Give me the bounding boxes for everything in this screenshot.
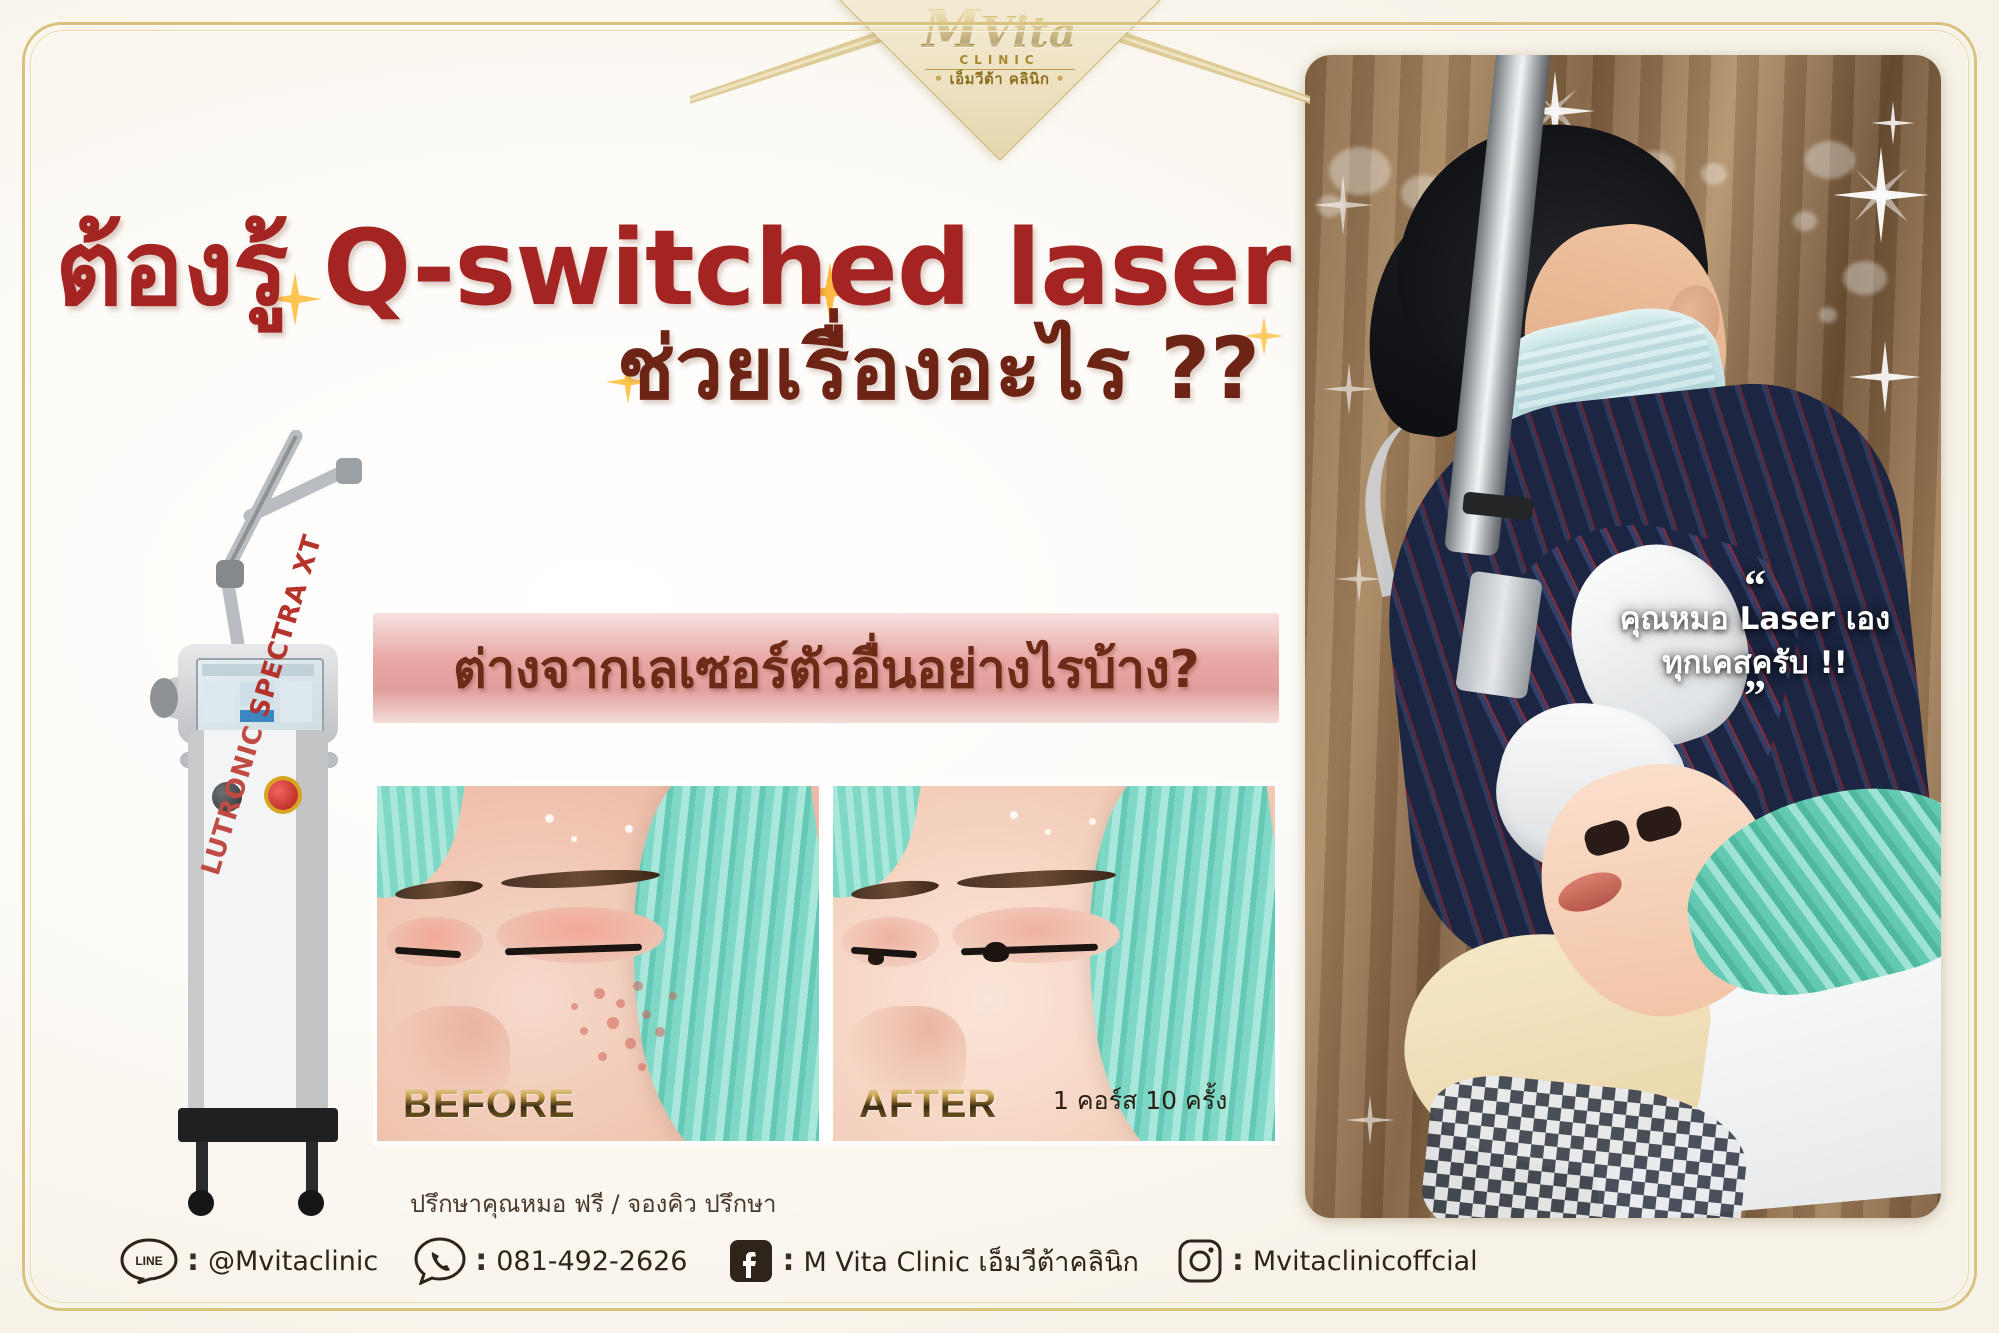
brand-logo-m: M: [922, 0, 980, 60]
quote-open-mark: “: [1605, 575, 1905, 597]
contact-separator: :: [1232, 1249, 1244, 1273]
clinic-treatment-photo: “ คุณหมอ Laser เอง ทุกเคสครับ !! ”: [1305, 55, 1941, 1218]
headline-line-1: ต้องรู้ Q-switched laser: [55, 215, 1290, 321]
phone-icon[interactable]: [414, 1237, 466, 1285]
laser-machine-image: LUTRONIC SPECTRA XT: [100, 430, 400, 1190]
brand-logo-vita: Vita: [980, 8, 1076, 57]
headline-line-2: ช่วยเรื่องอะไร ??: [55, 323, 1290, 416]
facebook-icon[interactable]: [728, 1238, 774, 1284]
contact-separator: :: [783, 1249, 795, 1273]
before-after-gallery: BEFORE AFTER 1 คอร์ส 10 ครั้ง: [373, 782, 1279, 1145]
brand-logo-thai-text: เอ็มวีต้า คลินิก: [950, 70, 1050, 88]
brand-logo-clinic: CLINIC: [850, 54, 1150, 66]
poster-canvas: MVita CLINIC • เอ็มวีต้า คลินิก • ต้องรู…: [0, 0, 1999, 1333]
machine-emergency-stop-button[interactable]: [268, 780, 298, 810]
line-icon-label: LINE: [135, 1254, 162, 1268]
logo-dot-left: •: [934, 70, 944, 88]
patient-figure: [1385, 755, 1941, 1218]
contact-instagram[interactable]: : Mvitaclinicoffcial: [1177, 1238, 1478, 1284]
brand-logo: MVita CLINIC • เอ็มวีต้า คลินิก •: [850, 4, 1150, 87]
brand-logo-wordmark: MVita: [850, 4, 1150, 56]
contact-separator: :: [475, 1249, 487, 1273]
contact-footer: ปรึกษาคุณหมอ ฟรี / จองคิว ปรึกษา LINE : …: [120, 1184, 1220, 1285]
brand-logo-thai: • เอ็มวีต้า คลินิก •: [850, 72, 1150, 87]
after-course-note: 1 คอร์ส 10 ครั้ง: [1053, 1081, 1227, 1121]
subheadline-banner: ต่างจากเลเซอร์ตัวอื่นอย่างไรบ้าง?: [373, 613, 1279, 723]
quote-line-1: คุณหมอ Laser เอง: [1605, 597, 1905, 641]
before-photo: BEFORE: [377, 786, 819, 1141]
contact-phone-value: 081-492-2626: [496, 1246, 687, 1277]
contact-row: LINE : @Mvitaclinic : 081-492-2626 :: [120, 1237, 1220, 1285]
subheadline-text: ต่างจากเลเซอร์ตัวอื่นอย่างไรบ้าง?: [453, 627, 1199, 710]
quote-close-mark: ”: [1605, 685, 1905, 707]
machine-base: [178, 1108, 338, 1142]
instagram-icon[interactable]: [1177, 1238, 1223, 1284]
machine-body: [188, 730, 328, 1110]
before-label: BEFORE: [403, 1082, 576, 1127]
contact-instagram-value: Mvitaclinicoffcial: [1253, 1246, 1478, 1277]
footer-tagline: ปรึกษาคุณหมอ ฟรี / จองคิว ปรึกษา: [410, 1184, 1220, 1223]
contact-facebook-value: M Vita Clinic เอ็มวีต้าคลินิก: [804, 1240, 1139, 1283]
contact-separator: :: [187, 1249, 199, 1273]
line-icon[interactable]: LINE: [120, 1238, 178, 1284]
contact-line[interactable]: LINE : @Mvitaclinic: [120, 1238, 378, 1284]
doctor-quote: “ คุณหมอ Laser เอง ทุกเคสครับ !! ”: [1605, 575, 1905, 707]
after-label: AFTER: [859, 1082, 997, 1127]
contact-facebook[interactable]: : M Vita Clinic เอ็มวีต้าคลินิก: [728, 1238, 1139, 1284]
headline-block: ต้องรู้ Q-switched laser ช่วยเรื่องอะไร …: [55, 215, 1290, 416]
contact-line-value: @Mvitaclinic: [208, 1246, 378, 1277]
contact-phone[interactable]: : 081-492-2626: [414, 1237, 687, 1285]
after-photo: AFTER 1 คอร์ส 10 ครั้ง: [833, 786, 1275, 1141]
logo-dot-right: •: [1055, 70, 1065, 88]
